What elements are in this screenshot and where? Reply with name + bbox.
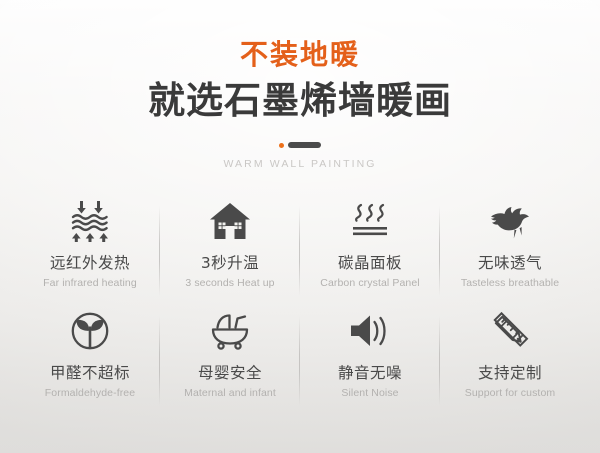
bird-icon (487, 198, 533, 244)
far-infrared-heating-icon (68, 198, 112, 244)
banner-header: 不装地暖 就选石墨烯墙暖画 WARM WALL PAINTING (0, 0, 600, 170)
divider-bar (288, 142, 321, 148)
feature-label-en: 3 seconds Heat up (185, 277, 274, 289)
feature-cell-silent-noise: 静音无噪 Silent Noise (300, 304, 440, 414)
feature-label-en: Tasteless breathable (461, 277, 559, 289)
feature-cell-far-infrared-heating: 远红外发热 Far infrared heating (20, 194, 160, 304)
feature-cell-3-seconds-heat-up: 3秒升温 3 seconds Heat up (160, 194, 300, 304)
feature-cell-tasteless-breathable: 无味透气 Tasteless breathable (440, 194, 580, 304)
feature-label-cn: 静音无噪 (338, 361, 402, 383)
feature-label-cn: 3秒升温 (201, 251, 259, 273)
stroller-icon (207, 308, 253, 354)
feature-label-cn: 远红外发热 (50, 251, 130, 273)
house-icon (209, 198, 251, 244)
headline-top: 不装地暖 (0, 40, 600, 71)
speaker-mute-icon (348, 308, 392, 354)
feature-grid: 远红外发热 Far infrared heating 3秒升温 3 second… (20, 194, 580, 414)
divider-ornament (0, 141, 600, 149)
ruler-pencil-icon (489, 308, 531, 354)
feature-label-en: Carbon crystal Panel (320, 277, 419, 289)
feature-label-cn: 碳晶面板 (338, 251, 402, 273)
feature-label-en: Silent Noise (341, 387, 398, 399)
feature-label-cn: 甲醛不超标 (50, 361, 130, 383)
leaf-circle-icon (69, 308, 111, 354)
feature-cell-maternal-and-infant: 母婴安全 Maternal and infant (160, 304, 300, 414)
banner-subtitle: WARM WALL PAINTING (0, 158, 600, 170)
divider-dot (279, 143, 284, 148)
feature-cell-formaldehyde-free: 甲醛不超标 Formaldehyde-free (20, 304, 160, 414)
heat-panel-icon (349, 198, 391, 244)
feature-label-en: Maternal and infant (184, 387, 276, 399)
feature-label-en: Far infrared heating (43, 277, 137, 289)
feature-label-cn: 母婴安全 (198, 361, 262, 383)
headline-main: 就选石墨烯墙暖画 (0, 81, 600, 122)
feature-label-cn: 支持定制 (478, 361, 542, 383)
promo-banner: 不装地暖 就选石墨烯墙暖画 WARM WALL PAINTING (0, 0, 600, 453)
feature-label-en: Formaldehyde-free (45, 387, 135, 399)
feature-cell-carbon-crystal-panel: 碳晶面板 Carbon crystal Panel (300, 194, 440, 304)
feature-label-en: Support for custom (465, 387, 556, 399)
feature-cell-support-for-custom: 支持定制 Support for custom (440, 304, 580, 414)
feature-label-cn: 无味透气 (478, 251, 542, 273)
